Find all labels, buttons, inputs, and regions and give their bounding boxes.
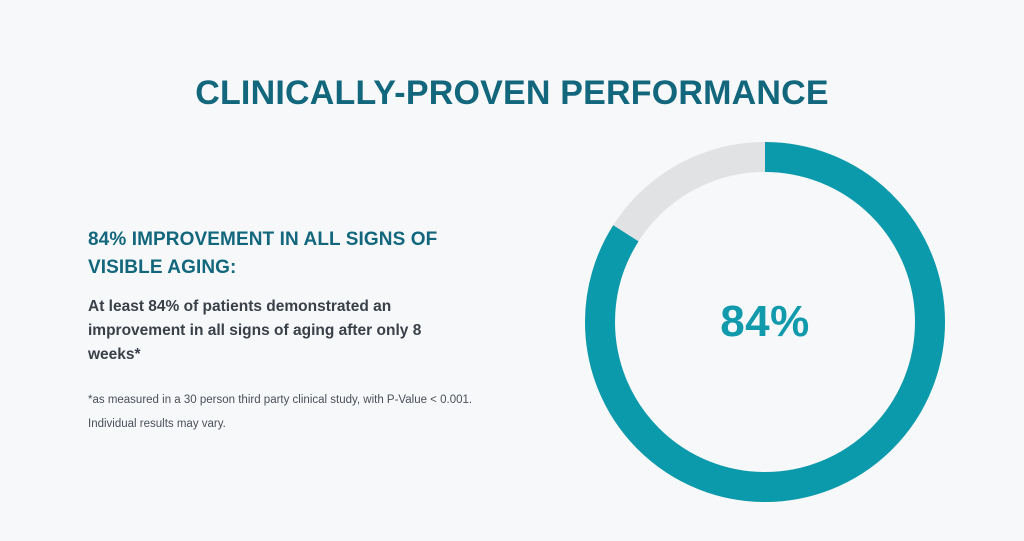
donut-chart-svg bbox=[585, 142, 945, 502]
page-title: CLINICALLY-PROVEN PERFORMANCE bbox=[0, 75, 1024, 112]
donut-chart: 84% bbox=[585, 142, 945, 502]
infographic-slide: CLINICALLY-PROVEN PERFORMANCE 84% IMPROV… bbox=[0, 0, 1024, 541]
stat-body-text: At least 84% of patients demonstrated an… bbox=[88, 295, 463, 367]
stat-footnote: *as measured in a 30 person third party … bbox=[88, 389, 488, 436]
stat-text-column: 84% IMPROVEMENT IN ALL SIGNS OF VISIBLE … bbox=[88, 226, 488, 436]
stat-heading: 84% IMPROVEMENT IN ALL SIGNS OF VISIBLE … bbox=[88, 226, 478, 281]
